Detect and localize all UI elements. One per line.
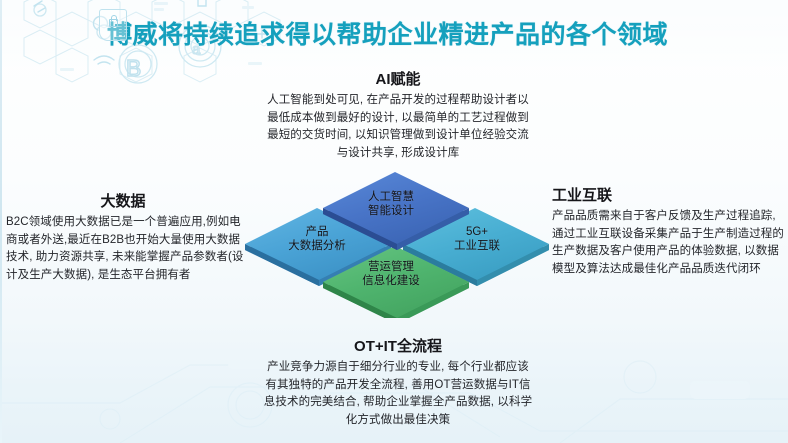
section-ai-heading: AI赋能 bbox=[262, 70, 534, 89]
svg-text:B: B bbox=[126, 55, 141, 81]
section-ai: AI赋能 人工智能到处可见, 在产品开发的过程帮助设计者以最低成本做到最好的设计… bbox=[262, 70, 534, 162]
four-quadrant-diagram: 人工智慧 智能设计 产品 大数据分析 5G+ 工业互联 营运管理 信息化建设 bbox=[243, 172, 553, 318]
section-otit-heading: OT+IT全流程 bbox=[262, 337, 534, 356]
section-bigdata-body: B2C领域使用大数据已是一个普遍应用,例如电商或者外送,最近在B2B也开始大量使… bbox=[6, 214, 246, 284]
slide-title-area: 博威将持续追求得以帮助企业精进产品的各个领域 bbox=[107, 15, 707, 55]
section-bigdata: 大数据 B2C领域使用大数据已是一个普遍应用,例如电商或者外送,最近在B2B也开… bbox=[6, 192, 246, 284]
section-iiot-heading: 工业互联 bbox=[552, 186, 784, 205]
lock-badge-icon bbox=[99, 9, 127, 41]
section-otit-body: 产业竞争力源自于细分行业的专业, 每个行业都应该有其独特的产品开发全流程, 善用… bbox=[262, 359, 534, 429]
slide-canvas: B a 博威将持续追求得以帮助企业精进产品的各个 bbox=[0, 0, 788, 443]
page-title: 博威将持续追求得以帮助企业精进产品的各个领域 bbox=[107, 15, 707, 55]
section-otit: OT+IT全流程 产业竞争力源自于细分行业的专业, 每个行业都应该有其独特的产品… bbox=[262, 337, 534, 429]
left-edge-rule bbox=[0, 0, 2, 443]
section-bigdata-heading: 大数据 bbox=[6, 192, 246, 211]
section-ai-body: 人工智能到处可见, 在产品开发的过程帮助设计者以最低成本做到最好的设计, 以最简… bbox=[262, 92, 534, 162]
section-iiot: 工业互联 产品品质需来自于客户反馈及生产过程追踪, 通过工业互联设备采集产品于生… bbox=[552, 186, 784, 278]
diagram-svg bbox=[243, 172, 553, 318]
section-iiot-body: 产品品质需来自于客户反馈及生产过程追踪, 通过工业互联设备采集产品于生产制造过程… bbox=[552, 208, 784, 278]
